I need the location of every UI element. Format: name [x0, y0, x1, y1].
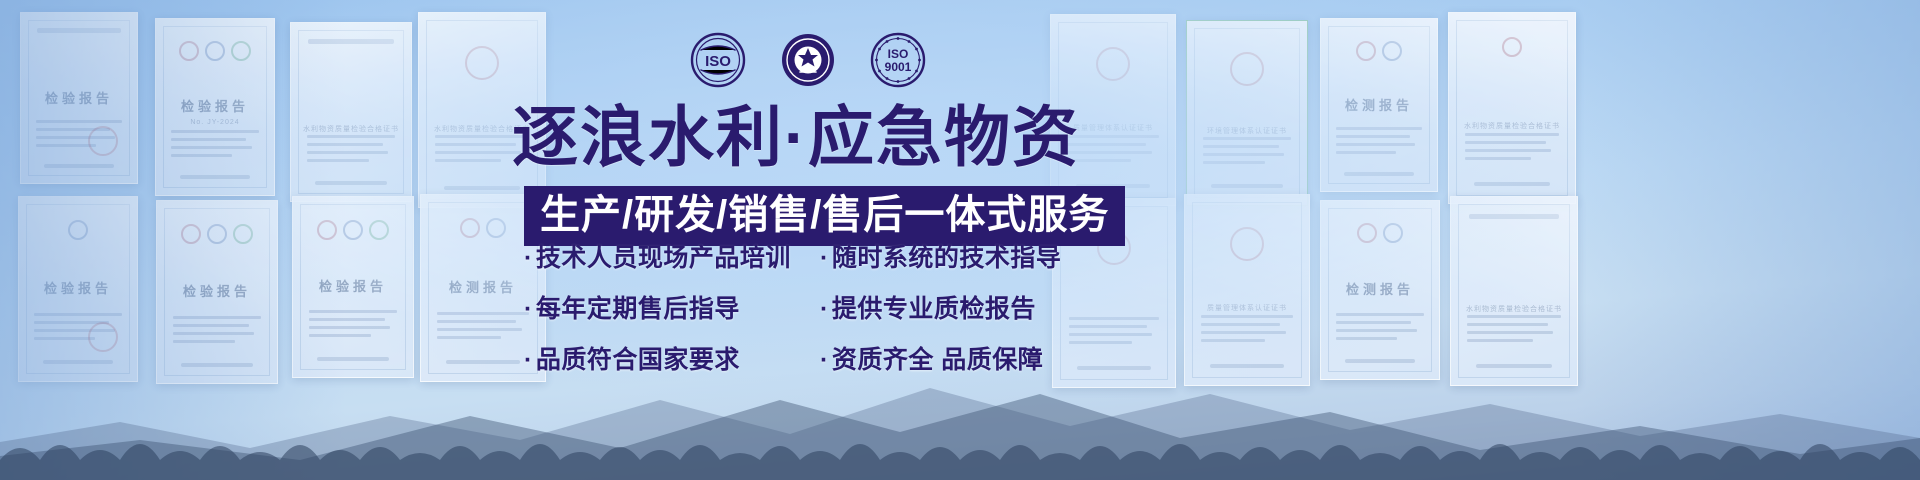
feature-bullet-icon: ·	[524, 244, 533, 272]
feature-bullet-icon: ·	[820, 295, 829, 323]
feature-item: ·每年定期售后指导	[524, 297, 806, 322]
feature-label: 提供专业质检报告	[832, 295, 1036, 323]
feature-item: ·技术人员现场产品培训	[524, 246, 806, 271]
feature-item: ·随时系统的技术指导	[820, 246, 1061, 271]
banner-subtitle-text: 生产/研发/销售/售后一体式服务	[540, 193, 1109, 237]
feature-label: 技术人员现场产品培训	[536, 244, 791, 272]
feature-bullet-icon: ·	[820, 346, 829, 374]
feature-label: 每年定期售后指导	[536, 295, 740, 323]
feature-label: 随时系统的技术指导	[832, 244, 1062, 272]
feature-item: ·资质齐全 品质保障	[820, 348, 1061, 373]
feature-label: 资质齐全 品质保障	[832, 346, 1043, 374]
feature-bullet-icon: ·	[524, 295, 533, 323]
feature-bullet-icon: ·	[820, 244, 829, 272]
feature-label: 品质符合国家要求	[536, 346, 740, 374]
feature-item: ·提供专业质检报告	[820, 297, 1061, 322]
banner-headline: 逐浪水利·应急物资	[512, 104, 1080, 170]
feature-list: ·技术人员现场产品培训 ·随时系统的技术指导 ·每年定期售后指导 ·提供专业质检…	[524, 246, 1061, 373]
feature-bullet-icon: ·	[524, 346, 533, 374]
banner-subtitle-bar: 生产/研发/销售/售后一体式服务	[524, 186, 1125, 246]
feature-item: ·品质符合国家要求	[524, 348, 806, 373]
promo-banner: 检验报告 检验报告 No. JY-2024 水利物资质量检验合格证书	[0, 0, 1920, 480]
banner-content: 逐浪水利·应急物资 生产/研发/销售/售后一体式服务 ·技术人员现场产品培训 ·…	[0, 0, 1920, 480]
